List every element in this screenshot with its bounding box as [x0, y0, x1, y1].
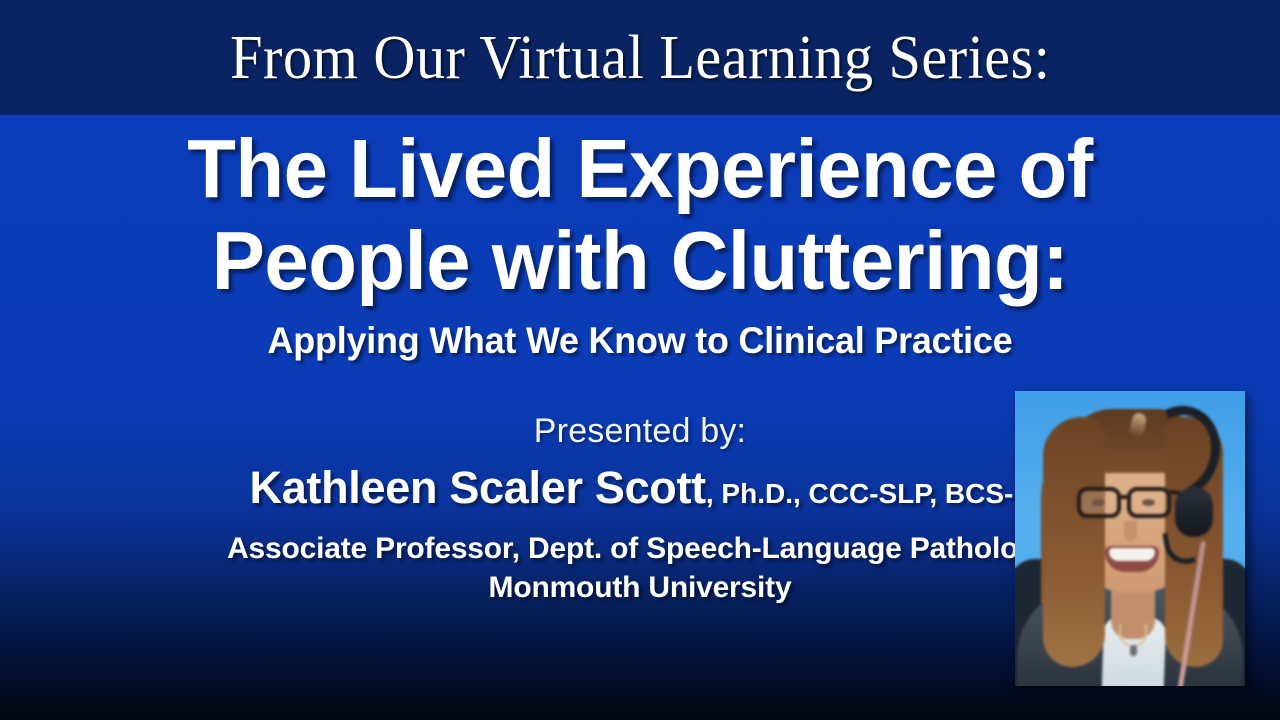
presenter-name-text: Kathleen Scaler Scott	[250, 462, 706, 513]
presentation-slide: From Our Virtual Learning Series: The Li…	[0, 0, 1280, 720]
presenter-credentials: , Ph.D., CCC-SLP, BCS-F	[706, 478, 1031, 509]
series-eyebrow-text: From Our Virtual Learning Series:	[230, 27, 1050, 89]
page-title: The Lived Experience of People with Clut…	[26, 123, 1255, 307]
page-subtitle: Applying What We Know to Clinical Practi…	[19, 319, 1261, 363]
title-line-2: People with Cluttering:	[26, 215, 1255, 307]
webcam-softening-overlay	[1015, 391, 1245, 686]
presenter-webcam-thumbnail	[1015, 391, 1245, 686]
header-band: From Our Virtual Learning Series:	[0, 0, 1280, 115]
title-line-1: The Lived Experience of	[26, 123, 1255, 215]
